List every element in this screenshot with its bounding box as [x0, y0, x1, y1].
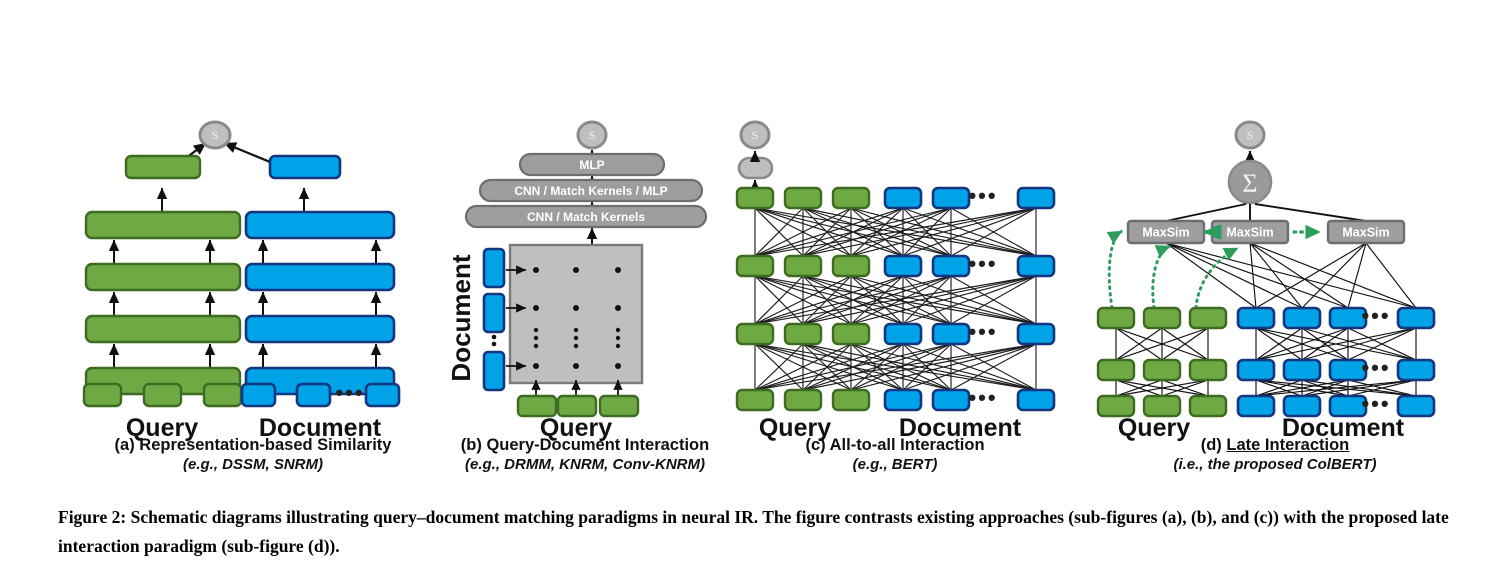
document-token — [1238, 396, 1274, 416]
query-token — [558, 396, 596, 416]
document-token — [885, 256, 921, 276]
panel-c-all-to-all-interaction: S •••••••••••• Query Document — [735, 118, 1055, 418]
query-token — [1098, 308, 1134, 328]
document-layer — [246, 212, 394, 238]
pill-mlp: MLP — [520, 154, 664, 175]
subcaption-d-title: (d) Late Interaction — [1100, 435, 1450, 455]
maxsim-document-edge — [1166, 243, 1302, 308]
query-token — [785, 256, 821, 276]
panel-a-representation-based-similarity: S — [78, 118, 418, 418]
all-to-all-edges — [755, 208, 1036, 390]
panel-c-diagram: S •••••••••••• Query Document — [735, 118, 1055, 418]
query-tower-a — [84, 156, 241, 406]
query-token — [833, 390, 869, 410]
query-token — [737, 390, 773, 410]
maxsim-label: MaxSim — [1142, 226, 1189, 240]
pill-cnn-match-kernels-mlp: CNN / Match Kernels / MLP — [480, 180, 702, 201]
query-layer — [86, 264, 240, 290]
document-token — [933, 324, 969, 344]
panel-b-query-document-interaction: S MLP CNN / Match Kernels / MLP CNN / Ma… — [452, 118, 732, 418]
document-ellipsis: ••• — [968, 251, 997, 276]
document-token — [242, 384, 275, 406]
query-token — [833, 324, 869, 344]
document-token — [933, 256, 969, 276]
document-token-ellipsis — [492, 335, 497, 347]
query-token — [1098, 396, 1134, 416]
sum-node-d: Σ — [1229, 161, 1271, 203]
query-token — [1098, 360, 1134, 380]
document-token — [366, 384, 399, 406]
pill-cnn-match-kernels-mlp-label: CNN / Match Kernels / MLP — [514, 184, 667, 198]
maxsim-document-edge — [1166, 243, 1416, 308]
query-token — [1144, 308, 1180, 328]
figure-2-container: S — [0, 0, 1500, 588]
document-token — [1284, 360, 1320, 380]
maxsim-box-2: MaxSim — [1212, 221, 1288, 243]
document-ellipsis: ••• — [1361, 303, 1390, 328]
subcaption-c-examples: (e.g., BERT) — [735, 455, 1055, 475]
query-layer-top — [126, 156, 200, 178]
subcaption-b-title: (b) Query-Document Interaction — [435, 435, 735, 455]
pill-cnn-match-kernels-label: CNN / Match Kernels — [527, 210, 645, 224]
subcaption-c-title: (c) All-to-all Interaction — [735, 435, 1055, 455]
document-token — [1284, 396, 1320, 416]
score-node-c: S — [741, 122, 769, 148]
query-token — [785, 188, 821, 208]
maxsim-label: MaxSim — [1342, 226, 1389, 240]
document-token — [1398, 360, 1434, 380]
query-token — [737, 324, 773, 344]
maxsim-document-edge — [1166, 243, 1348, 308]
pill-cnn-match-kernels: CNN / Match Kernels — [466, 206, 706, 227]
score-node-d: S — [1236, 122, 1264, 148]
figure-caption: Figure 2: Schematic diagrams illustratin… — [58, 503, 1453, 561]
score-node-label: S — [589, 128, 596, 142]
subcaption-a-examples: (e.g., DSSM, SNRM) — [58, 455, 448, 475]
maxsim-document-edge — [1250, 243, 1256, 308]
document-token — [484, 352, 504, 390]
document-layer — [246, 316, 394, 342]
subcaption-b: (b) Query-Document Interaction (e.g., DR… — [435, 435, 735, 475]
query-token — [785, 324, 821, 344]
document-layer-top — [270, 156, 340, 178]
subcaption-a: (a) Representation-based Similarity (e.g… — [58, 435, 448, 475]
document-tower-a: ••• — [242, 156, 399, 406]
score-node-label: S — [752, 128, 759, 142]
maxsim-box-3: MaxSim — [1328, 221, 1404, 243]
document-ellipsis: ••• — [1361, 391, 1390, 416]
document-layer — [246, 264, 394, 290]
document-token — [484, 249, 504, 287]
panel-d-diagram: S Σ MaxSim MaxSim — [1098, 118, 1468, 418]
document-token — [1238, 308, 1274, 328]
document-token — [1018, 188, 1054, 208]
token-rows-d: ••••••••• — [1098, 303, 1434, 416]
document-token — [1398, 396, 1434, 416]
score-node-label: S — [1247, 128, 1254, 142]
query-token — [1144, 396, 1180, 416]
query-token — [84, 384, 121, 406]
sum-edges — [1166, 204, 1366, 221]
query-token — [1190, 308, 1226, 328]
query-token — [144, 384, 181, 406]
maxsim-document-edges — [1166, 243, 1416, 308]
document-token — [1284, 308, 1320, 328]
subcaption-d: (d) Late Interaction (i.e., the proposed… — [1100, 435, 1450, 475]
document-ellipsis: ••• — [1361, 355, 1390, 380]
query-token — [1144, 360, 1180, 380]
document-token — [933, 188, 969, 208]
maxsim-box-1: MaxSim — [1128, 221, 1204, 243]
query-tokens-b — [518, 380, 638, 416]
query-token — [1190, 396, 1226, 416]
document-token — [933, 390, 969, 410]
document-token — [885, 390, 921, 410]
document-token — [1238, 360, 1274, 380]
query-token — [737, 256, 773, 276]
document-token — [885, 188, 921, 208]
subcaption-a-title: (a) Representation-based Similarity — [58, 435, 448, 455]
query-layer — [86, 316, 240, 342]
panel-b-diagram: S MLP CNN / Match Kernels / MLP CNN / Ma… — [452, 118, 732, 418]
document-token — [1018, 390, 1054, 410]
subcaption-d-examples: (i.e., the proposed ColBERT) — [1100, 455, 1450, 475]
maxsim-label: MaxSim — [1226, 226, 1273, 240]
query-token — [518, 396, 556, 416]
sum-node-label: Σ — [1242, 169, 1257, 198]
query-token — [1190, 360, 1226, 380]
document-axis-label-b: Document — [446, 254, 476, 381]
query-token — [204, 384, 241, 406]
interaction-matrix — [510, 245, 642, 383]
document-ellipsis: ••• — [968, 319, 997, 344]
document-token — [1398, 308, 1434, 328]
maxsim-document-edge — [1166, 243, 1256, 308]
panel-a-diagram: S — [78, 118, 418, 418]
score-node-label: S — [212, 128, 219, 142]
document-token — [1018, 324, 1054, 344]
document-token — [1018, 256, 1054, 276]
query-token — [785, 390, 821, 410]
document-ellipsis: ••• — [968, 183, 997, 208]
document-ellipsis: ••• — [335, 380, 364, 405]
query-layer — [86, 212, 240, 238]
document-token — [484, 294, 504, 332]
subcaption-c: (c) All-to-all Interaction (e.g., BERT) — [735, 435, 1055, 475]
query-token — [833, 256, 869, 276]
document-token — [885, 324, 921, 344]
document-ellipsis: ••• — [968, 385, 997, 410]
classifier-pill-c — [739, 158, 772, 178]
score-node-a: S — [200, 122, 230, 148]
query-token — [600, 396, 638, 416]
subcaption-b-examples: (e.g., DRMM, KNRM, Conv-KNRM) — [435, 455, 735, 475]
score-node-b: S — [578, 122, 606, 148]
query-token — [833, 188, 869, 208]
panel-d-late-interaction: S Σ MaxSim MaxSim — [1098, 118, 1468, 418]
document-token — [297, 384, 330, 406]
query-token — [737, 188, 773, 208]
pill-mlp-label: MLP — [579, 158, 604, 172]
